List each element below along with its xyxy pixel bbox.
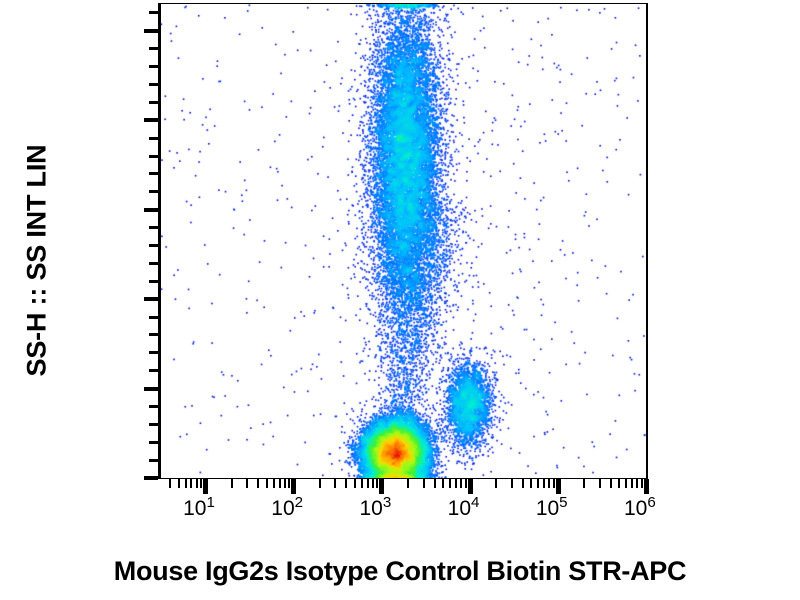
x-axis-minor-tick [423, 479, 425, 488]
x-axis-major-tick [291, 479, 296, 494]
x-axis-major-tick [203, 479, 208, 494]
x-axis-minor-tick [185, 479, 187, 488]
x-axis-minor-tick [548, 479, 550, 488]
y-axis-minor-tick [149, 172, 158, 175]
y-axis-minor-tick [149, 83, 158, 86]
y-axis-minor-tick [149, 101, 158, 104]
x-axis-minor-tick [273, 479, 275, 488]
y-axis-minor-tick [149, 65, 158, 68]
x-axis-minor-tick [200, 479, 202, 488]
x-axis-minor-tick [599, 479, 601, 488]
x-axis-tick-label: 105 [536, 497, 568, 521]
x-axis-minor-tick [345, 479, 347, 488]
x-axis-minor-tick [407, 479, 409, 488]
x-axis-minor-tick [284, 479, 286, 488]
y-axis-minor-tick [149, 441, 158, 444]
y-axis-minor-tick [149, 369, 158, 372]
x-axis-minor-tick [354, 479, 356, 488]
x-axis-minor-tick [288, 479, 290, 488]
y-axis-minor-tick [149, 226, 158, 229]
x-axis-minor-tick [543, 479, 545, 488]
x-axis-minor-tick [636, 479, 638, 488]
y-axis-minor-tick [149, 351, 158, 354]
plot-right-border [646, 3, 648, 479]
y-axis-minor-tick [149, 280, 158, 283]
x-axis-minor-tick [190, 479, 192, 488]
x-axis-minor-tick [530, 479, 532, 488]
x-axis-minor-tick [442, 479, 444, 488]
x-axis-major-tick [644, 479, 649, 494]
x-axis-major-tick [379, 479, 384, 494]
y-axis-minor-tick [149, 316, 158, 319]
y-axis-major-tick [144, 387, 158, 391]
x-axis-minor-tick [583, 479, 585, 488]
y-axis-minor-tick [149, 11, 158, 14]
y-axis-major-tick [144, 29, 158, 33]
x-axis-minor-tick [625, 479, 627, 488]
x-axis-tick-label: 106 [624, 497, 656, 521]
x-axis-minor-tick [522, 479, 524, 488]
y-axis-minor-tick [149, 459, 158, 462]
x-axis-minor-tick [465, 479, 467, 488]
x-axis-major-tick [556, 479, 561, 494]
y-axis-major-tick [144, 297, 158, 301]
x-axis-minor-tick [537, 479, 539, 488]
x-axis-minor-tick [434, 479, 436, 488]
y-axis-minor-tick [149, 405, 158, 408]
x-axis-minor-tick [279, 479, 281, 488]
x-axis-minor-tick [455, 479, 457, 488]
x-axis-minor-tick [231, 479, 233, 488]
x-axis-minor-tick [553, 479, 555, 488]
x-axis-minor-tick [178, 479, 180, 488]
y-axis-minor-tick [149, 47, 158, 50]
y-axis-minor-tick [149, 262, 158, 265]
x-tick-label-group: 101102103104105106 [0, 497, 800, 557]
x-axis-minor-tick [610, 479, 612, 488]
flow-cytometry-figure: SS-H :: SS INT LIN 050K100K150K200K250K … [0, 0, 800, 600]
x-axis-minor-tick [641, 479, 643, 488]
x-axis-minor-tick [376, 479, 378, 488]
x-axis-tick-label: 102 [271, 497, 303, 521]
y-axis-minor-tick [149, 190, 158, 193]
y-axis-major-tick [144, 476, 158, 480]
y-axis-major-tick [144, 208, 158, 212]
y-axis-minor-tick [149, 244, 158, 247]
y-axis-minor-tick [149, 155, 158, 158]
y-axis-minor-tick [149, 137, 158, 140]
x-axis-tick-label: 101 [183, 497, 215, 521]
x-axis-minor-tick [372, 479, 374, 488]
y-axis-major-tick [144, 118, 158, 122]
x-axis-title: Mouse IgG2s Isotype Control Biotin STR-A… [0, 556, 800, 587]
x-axis-minor-tick [319, 479, 321, 488]
x-axis-minor-tick [449, 479, 451, 488]
x-axis-minor-tick [196, 479, 198, 488]
x-axis-major-tick [468, 479, 473, 494]
x-axis-minor-tick [257, 479, 259, 488]
x-axis-minor-tick [631, 479, 633, 488]
x-axis-minor-tick [495, 479, 497, 488]
x-axis-minor-tick [334, 479, 336, 488]
x-axis-minor-tick [266, 479, 268, 488]
x-axis-tick-label: 104 [448, 497, 480, 521]
y-axis-minor-tick [149, 333, 158, 336]
y-axis-minor-tick [149, 423, 158, 426]
x-axis-minor-tick [618, 479, 620, 488]
x-axis-minor-tick [361, 479, 363, 488]
x-axis-minor-tick [460, 479, 462, 488]
x-axis-minor-tick [246, 479, 248, 488]
x-axis-tick-label: 103 [359, 497, 391, 521]
scatter-plot-canvas [161, 4, 646, 478]
x-axis-minor-tick [367, 479, 369, 488]
x-axis-minor-tick [511, 479, 513, 488]
x-axis-minor-tick [169, 479, 171, 488]
